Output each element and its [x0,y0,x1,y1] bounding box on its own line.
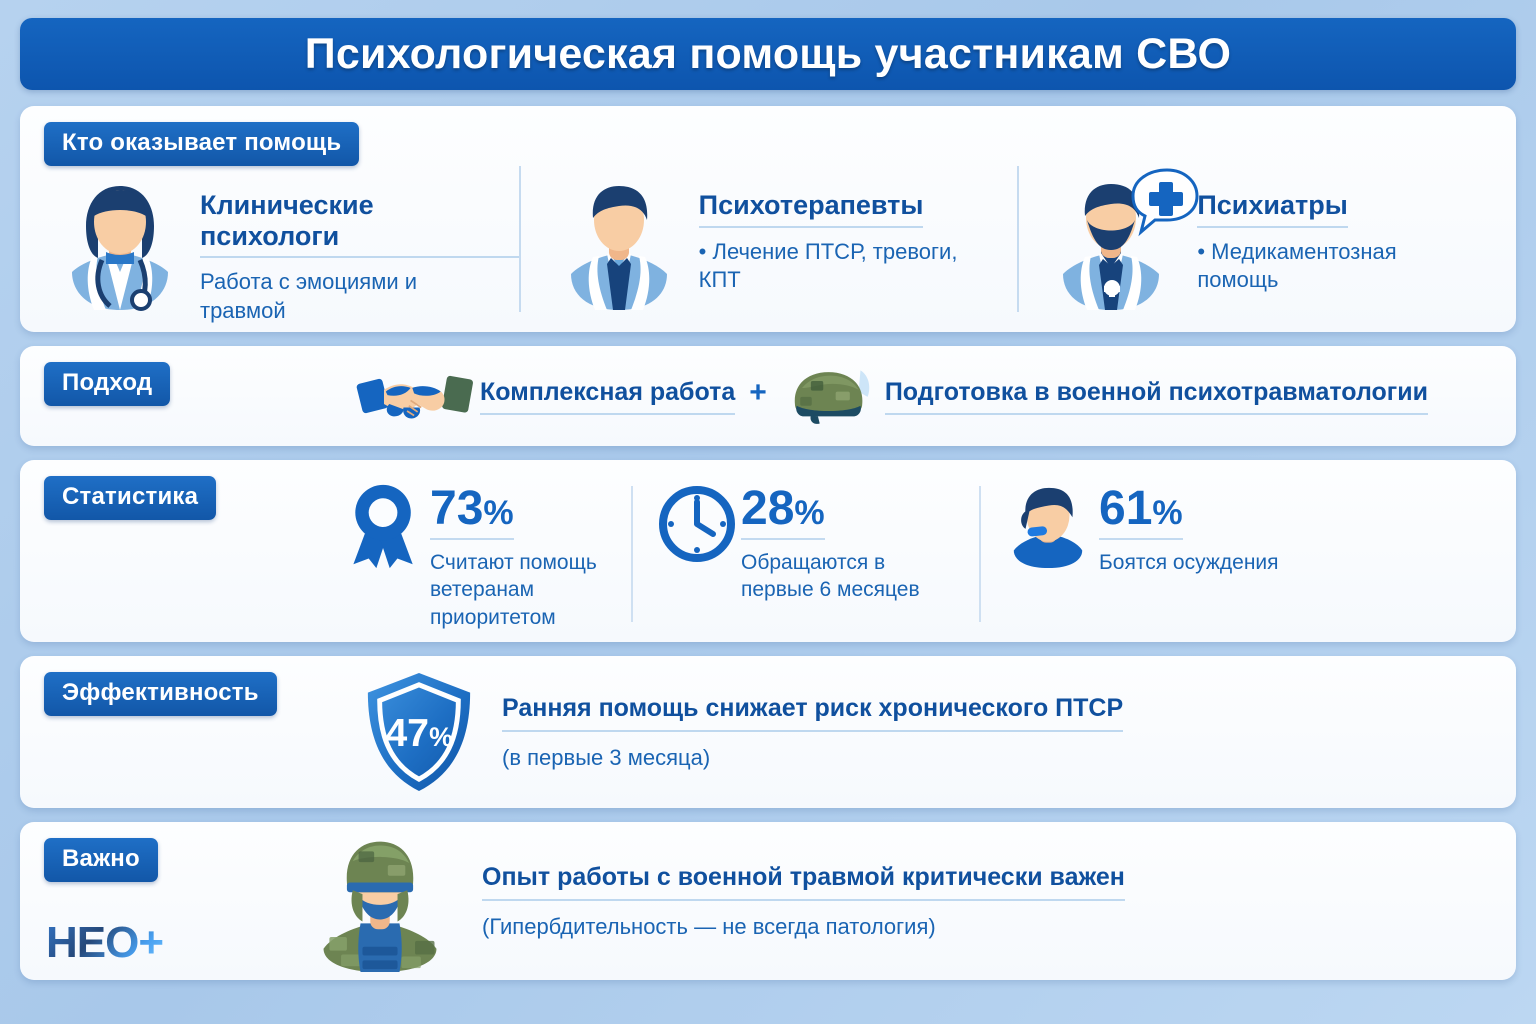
infographic-page: Психологическая помощь участникам СВО Кт… [0,0,1536,1024]
stat-label: Обращаются в первые 6 месяцев [741,549,953,604]
section-who-helps: Кто оказывает помощь [20,106,1516,332]
stat-value: 61% [1099,486,1183,540]
who-item-text: Клинические психологи Работа с эмоциями … [200,160,519,325]
stat-label: Считают помощь ветеранам приоритетом [430,549,605,632]
who-item-title: Клинические психологи [200,190,519,258]
male-therapist-icon [535,160,703,320]
section-badge-effectiveness: Эффективность [44,672,277,716]
shield-icon: 47% [360,669,478,795]
section-badge-statistics: Статистика [44,476,216,520]
who-item-text: Психиатры • Медикаментозная помощь [1197,160,1457,295]
approach-item-complex-work: Комплексная работа + [350,365,781,427]
who-item-title: Психиатры [1197,190,1347,228]
approach-first-label: Комплексная работа [480,378,735,415]
bearded-psychiatrist-icon [1033,160,1201,320]
watermark-logo: НЕО+ [46,918,163,968]
stat-item-priority: 73% Считают помощь ветеранам приоритетом [320,482,631,632]
important-main: Опыт работы с военной травмой критически… [482,863,1125,901]
important-text: Опыт работы с военной травмой критически… [482,863,1125,940]
who-item-clinical-psychologists: Клинические психологи Работа с эмоциями … [20,160,519,325]
military-helmet-icon [781,365,885,427]
section-approach: Подход Комплексная работа + [20,346,1516,446]
person-headset-icon [1005,482,1091,564]
award-ribbon-icon [346,482,422,564]
stat-label: Боятся осуждения [1099,549,1279,577]
effectiveness-text: Ранняя помощь снижает риск хронического … [502,694,1123,771]
section-badge-important: Важно [44,838,158,882]
approach-row: Комплексная работа + Подг [20,346,1516,446]
page-title-banner: Психологическая помощь участникам СВО [20,18,1516,90]
who-item-detail: • Медикаментозная помощь [1197,238,1457,295]
shield-value: 47 [385,711,429,755]
section-badge-approach: Подход [44,362,170,406]
approach-item-military-training: Подготовка в военной психотравматологии [781,365,1428,427]
who-item-psychotherapists: Психотерапевты • Лечение ПТСР, тревоги, … [519,160,1018,320]
section-important: Важно [20,822,1516,980]
shield-unit: % [429,722,453,752]
important-sub: (Гипербдительность — не всегда патология… [482,914,1125,940]
important-row: Опыт работы с военной травмой критически… [20,822,1516,980]
statistics-row: 73% Считают помощь ветеранам приоритетом [20,460,1516,642]
who-item-psychiatrists: Психиатры • Медикаментозная помощь [1017,160,1516,320]
stat-body: 28% Обращаются в первые 6 месяцев [741,482,953,604]
stat-item-first-six-months: 28% Обращаются в первые 6 месяцев [631,482,979,604]
stat-body: 61% Боятся осуждения [1099,482,1279,576]
effectiveness-sub: (в первые 3 месяца) [502,745,1123,771]
who-item-detail: Работа с эмоциями и травмой [200,268,460,325]
who-item-detail-text: Лечение ПТСР, тревоги, КПТ [699,239,958,293]
who-item-detail-text: Медикаментозная помощь [1197,239,1396,293]
section-effectiveness: Эффективность 47% Ранн [20,656,1516,808]
who-item-detail: • Лечение ПТСР, тревоги, КПТ [699,238,959,295]
female-doctor-icon [36,160,204,320]
stat-value: 73% [430,486,514,540]
handshake-icon [350,365,480,427]
stat-value: 28% [741,486,825,540]
section-statistics: Статистика 73% Считают помощь ветеранам … [20,460,1516,642]
plus-icon: + [749,376,767,410]
who-item-text: Психотерапевты • Лечение ПТСР, тревоги, … [699,160,959,295]
clock-icon [657,482,733,564]
stat-body: 73% Считают помощь ветеранам приоритетом [430,482,605,632]
approach-second-label: Подготовка в военной психотравматологии [885,378,1428,415]
stat-item-fear-of-judgment: 61% Боятся осуждения [979,482,1305,576]
page-title: Психологическая помощь участникам СВО [305,30,1231,79]
effectiveness-main: Ранняя помощь снижает риск хронического … [502,694,1123,732]
who-item-title: Психотерапевты [699,190,924,228]
soldier-icon [300,828,460,974]
